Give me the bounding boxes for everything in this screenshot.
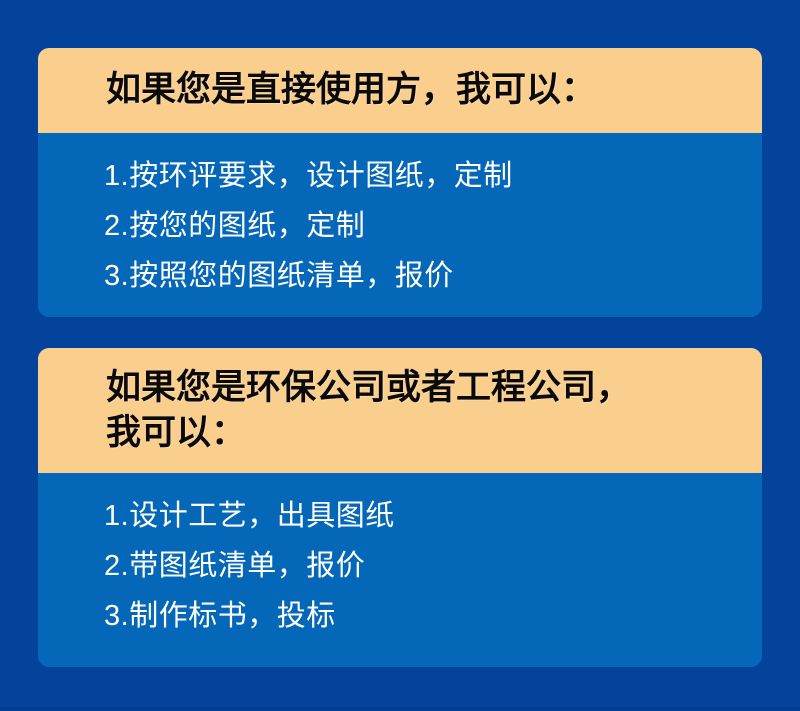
list-item-number: 3. [104,600,129,632]
offer-card-header: 如果您是直接使用方，我可以： [38,48,762,133]
list-item: 1.按环评要求，设计图纸，定制 [104,151,740,201]
list-item-number: 1. [104,500,129,532]
list-item-text: 按照您的图纸清单，报价 [129,260,454,292]
list-item: 1.设计工艺，出具图纸 [104,491,740,541]
list-item-number: 2. [104,550,129,582]
list-item-text: 按环评要求，设计图纸，定制 [129,160,513,192]
list-item: 2.按您的图纸，定制 [104,201,740,251]
list-item: 3.制作标书，投标 [104,591,740,641]
list-item-text: 按您的图纸，定制 [129,210,365,242]
list-item-text: 带图纸清单，报价 [129,550,365,582]
bottom-accent-band [0,707,800,711]
offer-card-direct-user: 如果您是直接使用方，我可以： 1.按环评要求，设计图纸，定制 2.按您的图纸，定… [38,48,762,317]
offer-list: 1.设计工艺，出具图纸 2.带图纸清单，报价 3.制作标书，投标 [104,491,740,641]
offer-card-body: 1.按环评要求，设计图纸，定制 2.按您的图纸，定制 3.按照您的图纸清单，报价 [38,133,762,317]
list-item: 3.按照您的图纸清单，报价 [104,251,740,301]
list-item-text: 设计工艺，出具图纸 [129,500,395,532]
list-item-number: 1. [104,160,129,192]
offer-card-header-title: 如果您是环保公司或者工程公司， 我可以： [106,366,631,456]
offer-card-company: 如果您是环保公司或者工程公司， 我可以： 1.设计工艺，出具图纸 2.带图纸清单… [38,348,762,667]
list-item-number: 2. [104,210,129,242]
offer-card-header: 如果您是环保公司或者工程公司， 我可以： [38,348,762,473]
promo-page: 如果您是直接使用方，我可以： 1.按环评要求，设计图纸，定制 2.按您的图纸，定… [0,0,800,711]
offer-list: 1.按环评要求，设计图纸，定制 2.按您的图纸，定制 3.按照您的图纸清单，报价 [104,151,740,301]
offer-card-body: 1.设计工艺，出具图纸 2.带图纸清单，报价 3.制作标书，投标 [38,473,762,661]
list-item-number: 3. [104,260,129,292]
offer-card-header-title: 如果您是直接使用方，我可以： [106,68,596,113]
list-item-text: 制作标书，投标 [129,600,336,632]
list-item: 2.带图纸清单，报价 [104,541,740,591]
